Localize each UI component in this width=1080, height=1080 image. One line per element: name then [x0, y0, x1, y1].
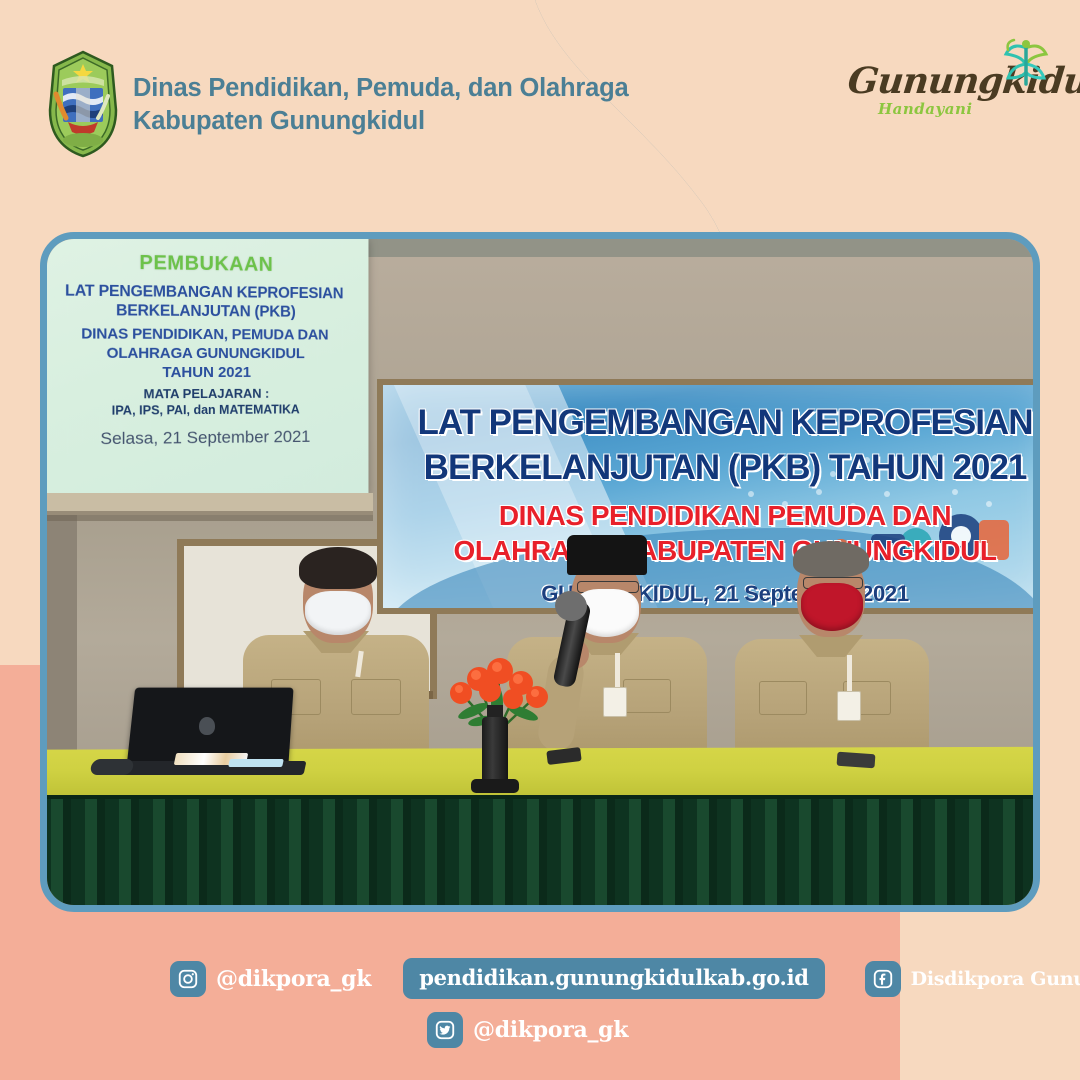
banner-line-1: LAT PENGEMBANGAN KEPROFESIAN	[395, 403, 1033, 443]
footer-row-secondary: @dikpora_gk	[427, 1012, 628, 1048]
event-photo: LAT PENGEMBANGAN KEPROFESIAN BERKELANJUT…	[47, 239, 1033, 905]
slide-date: Selasa, 21 September 2021	[47, 427, 361, 450]
event-photo-frame: LAT PENGEMBANGAN KEPROFESIAN BERKELANJUT…	[40, 232, 1040, 912]
vase-base	[471, 779, 519, 793]
person-left-face-mask	[305, 591, 371, 635]
social-footer: @dikpora_gk pendidikan.gunungkidulkab.go…	[0, 940, 1080, 1080]
person-left-pocket-right	[351, 679, 401, 715]
person-left-hair	[299, 547, 377, 589]
twitter-icon[interactable]	[427, 1012, 463, 1048]
person-right-id-badge	[837, 691, 861, 721]
slide-title: PEMBUKAAN	[47, 250, 361, 278]
facebook-page-name[interactable]: Disdikpora Gunungkidul	[911, 968, 1080, 990]
twitter-handle[interactable]: @dikpora_gk	[473, 1017, 628, 1043]
footer-row-primary: @dikpora_gk pendidikan.gunungkidulkab.go…	[170, 958, 1080, 999]
projector-screen: PEMBUKAAN LAT PENGEMBANGAN KEPROFESIAN B…	[47, 239, 368, 500]
person-right-hair	[793, 541, 869, 577]
slide-content: PEMBUKAAN LAT PENGEMBANGAN KEPROFESIAN B…	[47, 239, 368, 500]
slide-line-5: TAHUN 2021	[47, 363, 361, 383]
person-center-songkok-cap	[567, 535, 647, 575]
phone-right	[837, 752, 876, 769]
flower-vase	[482, 717, 508, 787]
instagram-handle[interactable]: @dikpora_gk	[216, 966, 371, 992]
org-title-block: Dinas Pendidikan, Pemuda, dan Olahraga K…	[133, 72, 628, 138]
website-url-chip[interactable]: pendidikan.gunungkidulkab.go.id	[403, 958, 824, 999]
person-center-id-badge	[603, 687, 627, 717]
regency-crest-icon	[46, 50, 120, 158]
org-title-line-2: Kabupaten Gunungkidul	[133, 105, 628, 138]
slide-line-1: LAT PENGEMBANGAN KEPROFESIAN	[47, 281, 361, 303]
org-title-line-1: Dinas Pendidikan, Pemuda, dan Olahraga	[133, 72, 628, 105]
person-right-pocket-left	[759, 681, 807, 715]
poster-canvas: Dinas Pendidikan, Pemuda, dan Olahraga K…	[0, 0, 1080, 1080]
laptop-blue-item	[228, 759, 284, 767]
poster-header: Dinas Pendidikan, Pemuda, dan Olahraga K…	[0, 0, 1080, 200]
slide-line-3: DINAS PENDIDIKAN, PEMUDA DAN	[47, 324, 361, 344]
facebook-icon[interactable]	[865, 961, 901, 997]
person-center-pocket	[623, 679, 671, 713]
person-right-face-mask	[801, 583, 863, 631]
slide-line-6: MATA PELAJARAN :	[47, 385, 361, 403]
table-skirt	[47, 799, 1033, 905]
mouse-device	[89, 759, 134, 775]
brand-tagline: Handayani	[878, 100, 973, 118]
slide-line-4: OLAHRAGA GUNUNGKIDUL	[47, 343, 361, 363]
person-right-lanyard	[847, 655, 852, 691]
instagram-icon[interactable]	[170, 961, 206, 997]
slide-line-7: IPA, IPS, PAI, dan MATEMATIKA	[47, 401, 361, 419]
gunungkidul-brand-logo: Gunungkidul Handayani	[836, 34, 1066, 130]
banner-line-3: DINAS PENDIDIKAN PEMUDA DAN	[395, 500, 1033, 532]
banner-line-2: BERKELANJUTAN (PKB) TAHUN 2021	[395, 448, 1033, 488]
screen-shadow-bar	[47, 511, 373, 521]
dragonfly-icon	[994, 34, 1058, 98]
laptop-logo-icon	[199, 717, 215, 735]
person-center-lanyard	[615, 653, 620, 687]
slide-line-2: BERKELANJUTAN (PKB)	[47, 300, 361, 322]
person-right	[727, 535, 937, 779]
